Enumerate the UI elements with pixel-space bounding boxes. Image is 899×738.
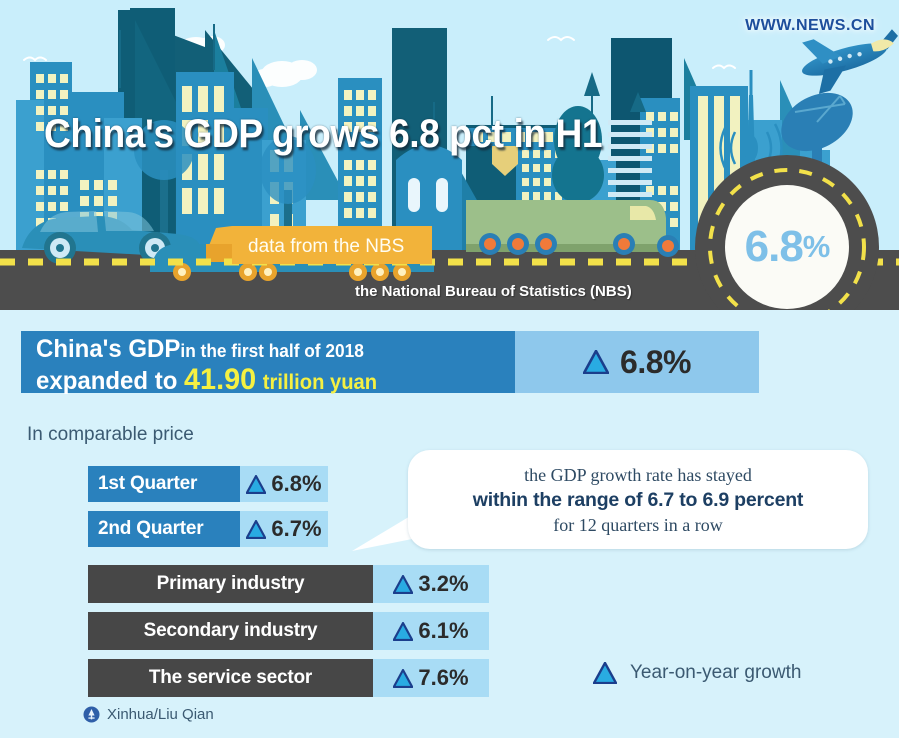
legend: Year-on-year growth: [593, 662, 801, 684]
truck-banner: data from the NBS: [232, 230, 432, 264]
quarter-label: 2nd Quarter: [88, 511, 240, 547]
sector-label: The service sector: [88, 659, 373, 697]
xinhua-logo-icon: [83, 706, 100, 723]
table-row: Secondary industry 6.1%: [88, 612, 489, 650]
sector-label: Secondary industry: [88, 612, 373, 650]
gdp-growth-rate-value: 6.8%: [620, 344, 691, 381]
triangle-up-icon: [393, 669, 413, 688]
headline-rate-unit: %: [803, 229, 830, 265]
comparable-price-note: In comparable price: [27, 424, 194, 446]
bubble-line-1: the GDP growth rate has stayed: [524, 463, 752, 487]
gdp-total-value: 41.90: [184, 363, 256, 396]
bubble-line-3: for 12 quarters in a row: [553, 513, 722, 537]
table-row: Primary industry 3.2%: [88, 565, 489, 603]
spire-top-icon: [584, 72, 600, 96]
quarter-value-cell: 6.8%: [240, 466, 328, 502]
gdp-summary-line2: expanded to 41.90 trillion yuan: [36, 365, 496, 397]
quarter-value-cell: 6.7%: [240, 511, 328, 547]
gdp-summary-line1-bold: China's GDP: [36, 335, 180, 363]
quarter-label: 1st Quarter: [88, 466, 240, 502]
triangle-up-icon: [593, 662, 617, 684]
table-row: 1st Quarter 6.8%: [88, 466, 328, 502]
gdp-summary-line1: China's GDPin the first half of 2018: [36, 336, 496, 365]
source-caption: the National Bureau of Statistics (NBS): [355, 283, 632, 300]
hero-illustration: WWW.NEWS.CN China's GDP grows 6.8 pct in…: [0, 0, 899, 310]
triangle-up-icon: [393, 622, 413, 641]
truck-banner-label: data from the NBS: [248, 236, 404, 258]
table-row: The service sector 7.6%: [88, 659, 489, 697]
gdp-summary-banner: China's GDPin the first half of 2018 exp…: [21, 331, 759, 393]
sector-value: 3.2%: [418, 571, 468, 597]
quarter-value: 6.7%: [271, 516, 321, 542]
gdp-summary-line1-rest: in the first half of 2018: [180, 341, 363, 361]
headline-rate-number: 6.8: [745, 222, 803, 272]
sector-value-cell: 7.6%: [373, 659, 489, 697]
site-watermark: WWW.NEWS.CN: [745, 17, 875, 35]
sector-value-cell: 3.2%: [373, 565, 489, 603]
triangle-up-icon: [393, 575, 413, 594]
gdp-total-unit: trillion yuan: [263, 371, 377, 394]
table-row: 2nd Quarter 6.7%: [88, 511, 328, 547]
triangle-up-icon: [246, 475, 266, 494]
gdp-summary-text: China's GDPin the first half of 2018 exp…: [21, 331, 515, 393]
sector-value-cell: 6.1%: [373, 612, 489, 650]
headline-rate-badge: 6.8%: [707, 167, 867, 310]
page-title: China's GDP grows 6.8 pct in H1: [44, 112, 602, 157]
triangle-up-icon: [246, 520, 266, 539]
triangle-up-icon: [583, 350, 609, 374]
quarter-value: 6.8%: [271, 471, 321, 497]
sector-label: Primary industry: [88, 565, 373, 603]
gdp-growth-rate-cell: 6.8%: [515, 331, 759, 393]
sector-value: 6.1%: [418, 618, 468, 644]
sector-value: 7.6%: [418, 665, 468, 691]
infographic-root: WWW.NEWS.CN China's GDP grows 6.8 pct in…: [0, 0, 899, 738]
legend-label: Year-on-year growth: [630, 662, 801, 684]
gdp-summary-line2-prefix: expanded to: [36, 367, 177, 395]
speech-bubble: the GDP growth rate has stayed within th…: [408, 450, 868, 549]
bubble-line-2: within the range of 6.7 to 6.9 percent: [473, 487, 803, 513]
green-truck-icon: [466, 200, 679, 257]
credit: Xinhua/Liu Qian: [83, 706, 214, 723]
credit-text: Xinhua/Liu Qian: [107, 706, 214, 723]
headline-rate-value: 6.8%: [707, 167, 867, 310]
